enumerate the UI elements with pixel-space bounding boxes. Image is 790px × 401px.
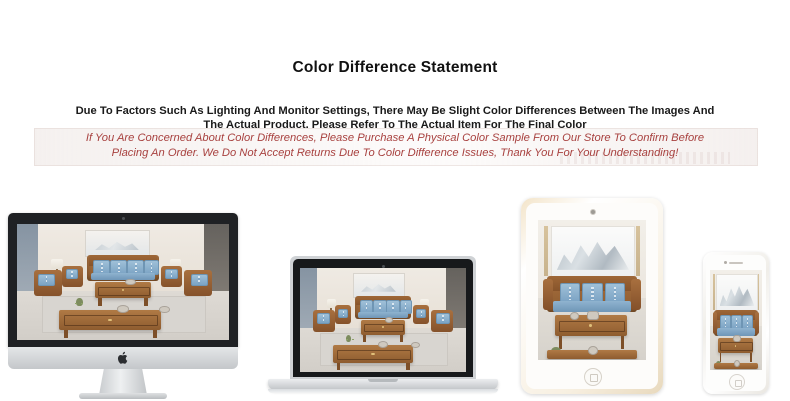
laptop-hinge-notch xyxy=(368,379,398,382)
camera-icon xyxy=(724,261,727,264)
color-difference-statement-page: Color Difference Statement Due To Factor… xyxy=(0,0,790,401)
phone-home-button[interactable] xyxy=(729,374,745,390)
notice-red-line-1: If You Are Concerned About Color Differe… xyxy=(0,131,790,146)
sofa-scene xyxy=(710,270,762,370)
sofa-scene xyxy=(538,220,646,360)
tablet-home-button[interactable] xyxy=(584,368,602,386)
device-phone xyxy=(703,252,769,394)
monitor-stand-neck xyxy=(99,369,147,395)
tablet-screen xyxy=(538,220,646,360)
notice-red-line-2: Placing An Order. We Do Not Accept Retur… xyxy=(0,146,790,161)
phone-screen xyxy=(710,270,762,370)
camera-icon xyxy=(590,209,596,215)
speaker-grill-icon xyxy=(729,262,743,264)
notice-black-line-1: Due To Factors Such As Lighting And Moni… xyxy=(0,104,790,118)
notice-red: If You Are Concerned About Color Differe… xyxy=(0,131,790,161)
monitor-stand-base xyxy=(79,393,167,399)
page-title: Color Difference Statement xyxy=(0,59,790,77)
monitor-bezel xyxy=(8,213,238,347)
living-room-scene xyxy=(300,268,466,372)
device-desktop-monitor xyxy=(8,213,238,395)
device-laptop xyxy=(268,256,498,396)
camera-icon xyxy=(122,217,125,220)
apple-logo-icon xyxy=(117,351,129,365)
monitor-screen xyxy=(17,224,229,340)
living-room-scene xyxy=(17,224,229,340)
device-tablet xyxy=(521,198,663,394)
laptop-screen xyxy=(300,268,466,372)
laptop-foot xyxy=(268,389,498,393)
